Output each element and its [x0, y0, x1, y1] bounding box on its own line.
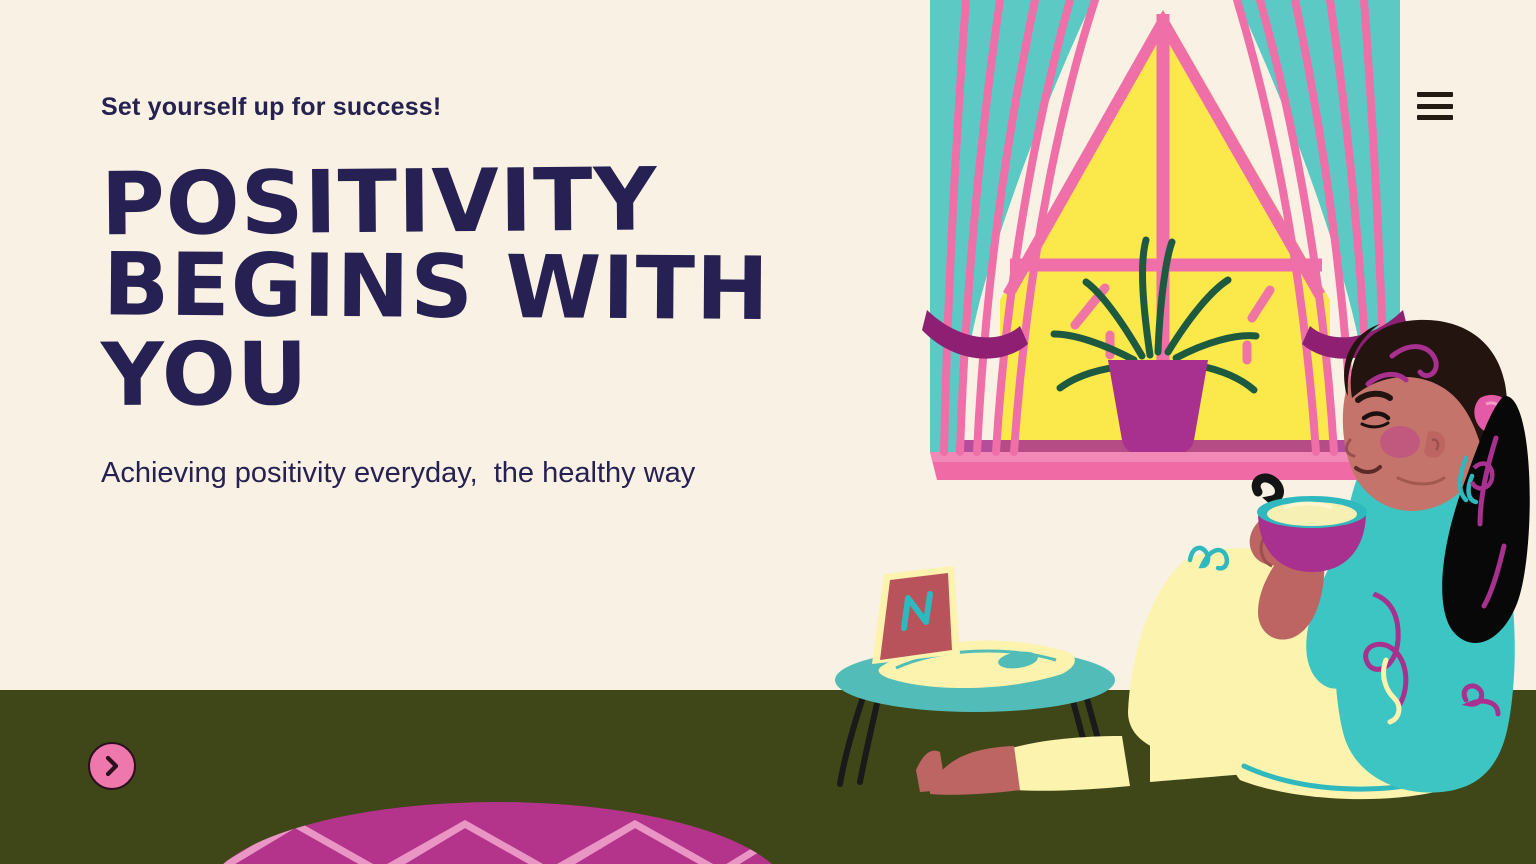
- curtain-right-icon: [1237, 0, 1408, 452]
- next-slide-button[interactable]: [88, 742, 136, 790]
- hero-text-block: Set yourself up for success! POSITIVITY …: [101, 92, 861, 494]
- menu-bar-2: [1417, 104, 1453, 109]
- window-sill-icon: [930, 440, 1395, 480]
- page-title: POSITIVITY BEGINS WITH YOU: [101, 158, 861, 416]
- menu-bar-1: [1417, 92, 1453, 97]
- subtitle-text: Achieving positivity everyday, the healt…: [101, 452, 791, 494]
- bowl-icon: [1256, 478, 1367, 572]
- hamburger-menu-icon[interactable]: [1417, 92, 1453, 120]
- headline-line-2: BEGINS WITH: [103, 241, 864, 332]
- potted-plant-icon: [1054, 240, 1256, 458]
- slide-canvas: Set yourself up for success! POSITIVITY …: [0, 0, 1536, 864]
- area-rug: [205, 802, 790, 864]
- headline-line-3: YOU: [101, 328, 861, 418]
- rug-pattern-icon: [205, 802, 790, 864]
- window-pane-icon: [1000, 0, 1330, 452]
- curtain-left-icon: [922, 0, 1095, 452]
- chevron-right-icon: [103, 755, 121, 777]
- laptop-icon: [872, 566, 1075, 688]
- eyebrow-text: Set yourself up for success!: [101, 92, 861, 122]
- menu-bar-3: [1417, 115, 1453, 120]
